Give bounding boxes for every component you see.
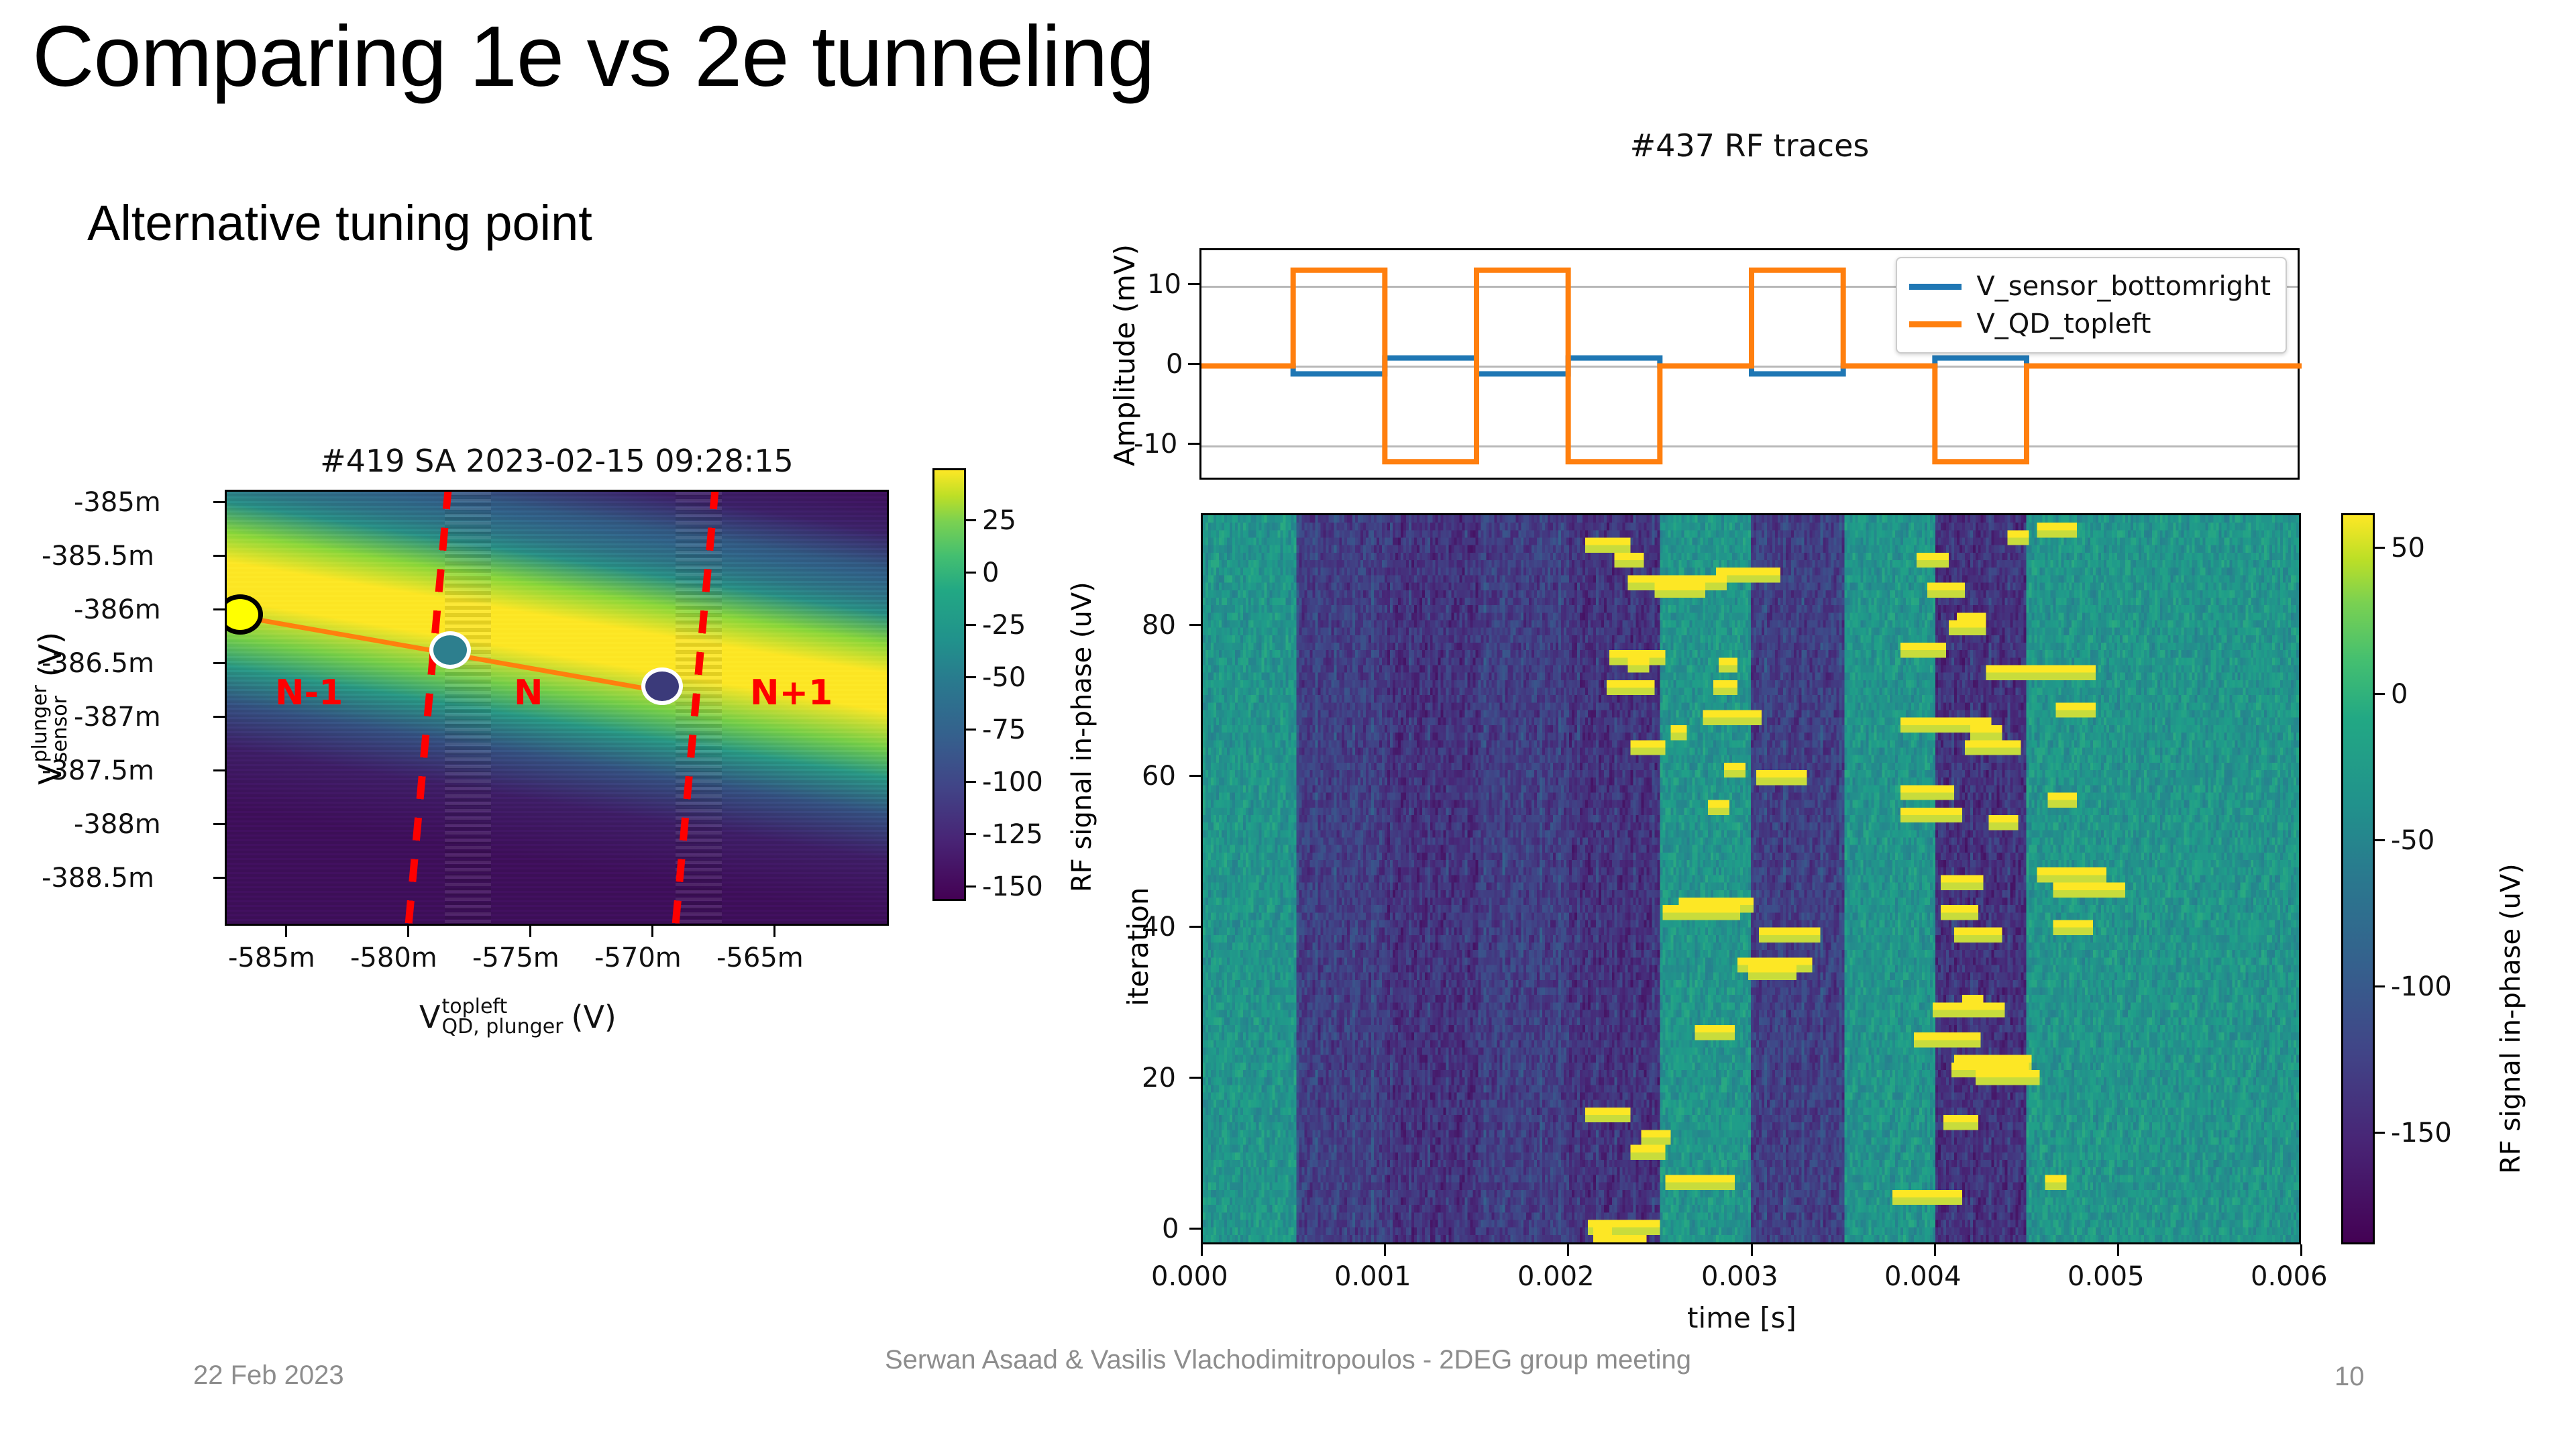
xaxis-label-unit: (V): [572, 999, 616, 1035]
xtick-mark: [1751, 1244, 1753, 1256]
ytick-label: 20: [1142, 1063, 1176, 1093]
cbar-tick-label: -150: [982, 871, 1043, 902]
cbar-tick-mark: [966, 624, 976, 626]
xtick-label: 0.001: [1334, 1261, 1411, 1292]
xtick-mark: [1201, 1244, 1203, 1256]
xtick-label: -575m: [472, 943, 559, 973]
cbar-tick-label: -100: [2391, 971, 2452, 1002]
waveform-plot-area: V_sensor_bottomright V_QD_topleft: [1199, 248, 2300, 480]
xtick-mark: [2117, 1244, 2119, 1256]
page-title: Comparing 1e vs 2e tunneling: [32, 12, 1155, 102]
yaxis-label-unit: (V): [32, 632, 68, 677]
cbar-tick-mark: [966, 885, 976, 888]
cbar-tick-mark: [2375, 839, 2385, 841]
charge-stability-colorbar: [932, 468, 966, 901]
ytick-mark: [1189, 1077, 1201, 1079]
cbar-tick-label: 0: [982, 557, 999, 588]
region-label-n-plus-1: N+1: [750, 673, 833, 713]
xtick-label: -570m: [594, 943, 682, 973]
xtick-mark: [407, 926, 409, 937]
heatmap-xaxis-label: time [s]: [1687, 1301, 1796, 1334]
cbar-tick-mark: [966, 781, 976, 783]
ytick-mark: [213, 769, 225, 771]
heatmap-transition-texture-left: [445, 492, 491, 924]
ytick-label: -386m: [74, 594, 161, 625]
ytick-mark: [1189, 624, 1201, 626]
ytick-label: 10: [1147, 269, 1181, 300]
yaxis-label-superscript: plunger: [30, 685, 50, 762]
legend-label-qd: V_QD_topleft: [1976, 309, 2151, 339]
cbar-tick-label: 25: [982, 505, 1016, 536]
cbar-tick-mark: [2375, 1132, 2385, 1134]
footer-attribution: Serwan Asaad & Vasilis Vlachodimitropoul…: [859, 1342, 1717, 1378]
ytick-label: -388m: [74, 809, 161, 840]
cbar-tick-label: -100: [982, 767, 1043, 798]
rf-heatmap-colorbar-label: RF signal in-phase (uV): [2495, 863, 2526, 1174]
xtick-mark: [1934, 1244, 1936, 1256]
xtick-label: 0.006: [2251, 1261, 2328, 1292]
cbar-tick-mark: [2375, 547, 2385, 549]
ytick-label: -385.5m: [42, 541, 154, 572]
cbar-tick-label: -50: [2391, 825, 2434, 856]
charge-stability-plot-area: N-1 N N+1: [225, 490, 889, 926]
xtick-label: 0.004: [1884, 1261, 1962, 1292]
heatmap-yaxis-label: iteration: [1122, 888, 1155, 1006]
slide-subtitle: Alternative tuning point: [87, 195, 592, 252]
charge-stability-figure: #419 SA 2023-02-15 09:28:15 N-1 N N+1 -3…: [0, 429, 1073, 1207]
ytick-label: 0: [1166, 349, 1183, 380]
xtick-mark: [1567, 1244, 1569, 1256]
legend-item-qd[interactable]: V_QD_topleft: [1909, 305, 2271, 343]
cbar-tick-label: -125: [982, 819, 1043, 850]
cbar-tick-label: -150: [2391, 1118, 2452, 1148]
rf-traces-title: #437 RF traces: [1199, 127, 2300, 164]
cbar-tick-label: -25: [982, 610, 1026, 641]
ytick-mark: [1189, 775, 1201, 777]
cbar-tick-label: -75: [982, 714, 1026, 745]
xaxis-label: V topleft QD, plunger (V): [419, 996, 616, 1037]
rf-traces-waveform-figure: #437 RF traces V_sensor_bottomright V_QD…: [1060, 148, 2442, 496]
ytick-mark: [213, 877, 225, 879]
cbar-tick-mark: [966, 572, 976, 574]
rf-traces-heatmap-figure: 0 20 40 60 80 iteration 0.000 0.001 0.00…: [1060, 496, 2576, 1248]
xtick-label: 0.002: [1517, 1261, 1595, 1292]
legend-item-sensor[interactable]: V_sensor_bottomright: [1909, 268, 2271, 305]
ytick-label: -385m: [74, 487, 161, 518]
xtick-label: 0.003: [1701, 1261, 1778, 1292]
ytick-label: -387m: [74, 702, 161, 733]
xtick-mark: [2300, 1244, 2302, 1256]
xtick-mark: [285, 926, 287, 937]
ytick-mark: [213, 662, 225, 664]
xtick-label: -565m: [716, 943, 804, 973]
xtick-label: -580m: [350, 943, 437, 973]
waveform-yaxis-label: Amplitude (mV): [1108, 244, 1141, 466]
xaxis-label-subscript: QD, plunger: [441, 1017, 563, 1037]
region-label-n-minus-1: N-1: [275, 673, 343, 713]
cbar-tick-mark: [966, 676, 976, 678]
rf-heatmap-canvas: [1203, 515, 2299, 1242]
ytick-label: 60: [1142, 761, 1176, 792]
xaxis-label-base: V: [419, 999, 440, 1035]
ytick-mark: [213, 555, 225, 557]
tuning-point-empty[interactable]: [641, 667, 683, 705]
cbar-tick-mark: [966, 833, 976, 835]
cbar-tick-mark: [966, 519, 976, 521]
ytick-mark: [213, 608, 225, 610]
yaxis-label: V plunger sensor (V): [30, 632, 70, 785]
legend-label-sensor: V_sensor_bottomright: [1976, 271, 2271, 302]
tuning-point-middle[interactable]: [429, 631, 471, 669]
ytick-label: 80: [1142, 610, 1176, 641]
ytick-label: -388.5m: [42, 863, 154, 894]
waveform-legend[interactable]: V_sensor_bottomright V_QD_topleft: [1896, 257, 2287, 354]
ytick-mark: [1189, 1228, 1201, 1230]
footer-page-number: 10: [2334, 1362, 2365, 1392]
xtick-label: 0.005: [2068, 1261, 2145, 1292]
ytick-mark: [1189, 926, 1201, 928]
xtick-mark: [1384, 1244, 1386, 1256]
xtick-mark: [773, 926, 775, 937]
footer-date: 22 Feb 2023: [193, 1360, 344, 1391]
cbar-tick-mark: [2375, 985, 2385, 987]
xaxis-label-superscript: topleft: [441, 997, 563, 1017]
legend-swatch-sensor: [1909, 284, 1962, 290]
xtick-label: -585m: [228, 943, 315, 973]
cbar-tick-mark: [966, 729, 976, 731]
cbar-tick-label: 0: [2391, 679, 2408, 710]
ytick-mark: [1188, 443, 1199, 445]
xtick-mark: [651, 926, 653, 937]
ytick-mark: [213, 716, 225, 718]
charge-stability-title: #419 SA 2023-02-15 09:28:15: [225, 443, 889, 479]
legend-swatch-qd: [1909, 321, 1962, 327]
yaxis-label-base: V: [32, 764, 68, 785]
ytick-label: 0: [1162, 1214, 1179, 1244]
cbar-tick-label: 50: [2391, 533, 2425, 563]
cbar-tick-label: -50: [982, 662, 1026, 693]
rf-heatmap-plot-area: [1201, 513, 2301, 1244]
ytick-mark: [213, 823, 225, 825]
cbar-tick-mark: [2375, 693, 2385, 695]
xtick-label: 0.000: [1151, 1261, 1228, 1292]
ytick-mark: [1188, 363, 1199, 365]
region-label-n: N: [514, 673, 543, 713]
xtick-mark: [529, 926, 531, 937]
ytick-mark: [1188, 283, 1199, 285]
rf-heatmap-colorbar: [2341, 513, 2375, 1244]
ytick-mark: [213, 501, 225, 503]
yaxis-label-subscript: sensor: [50, 685, 70, 762]
